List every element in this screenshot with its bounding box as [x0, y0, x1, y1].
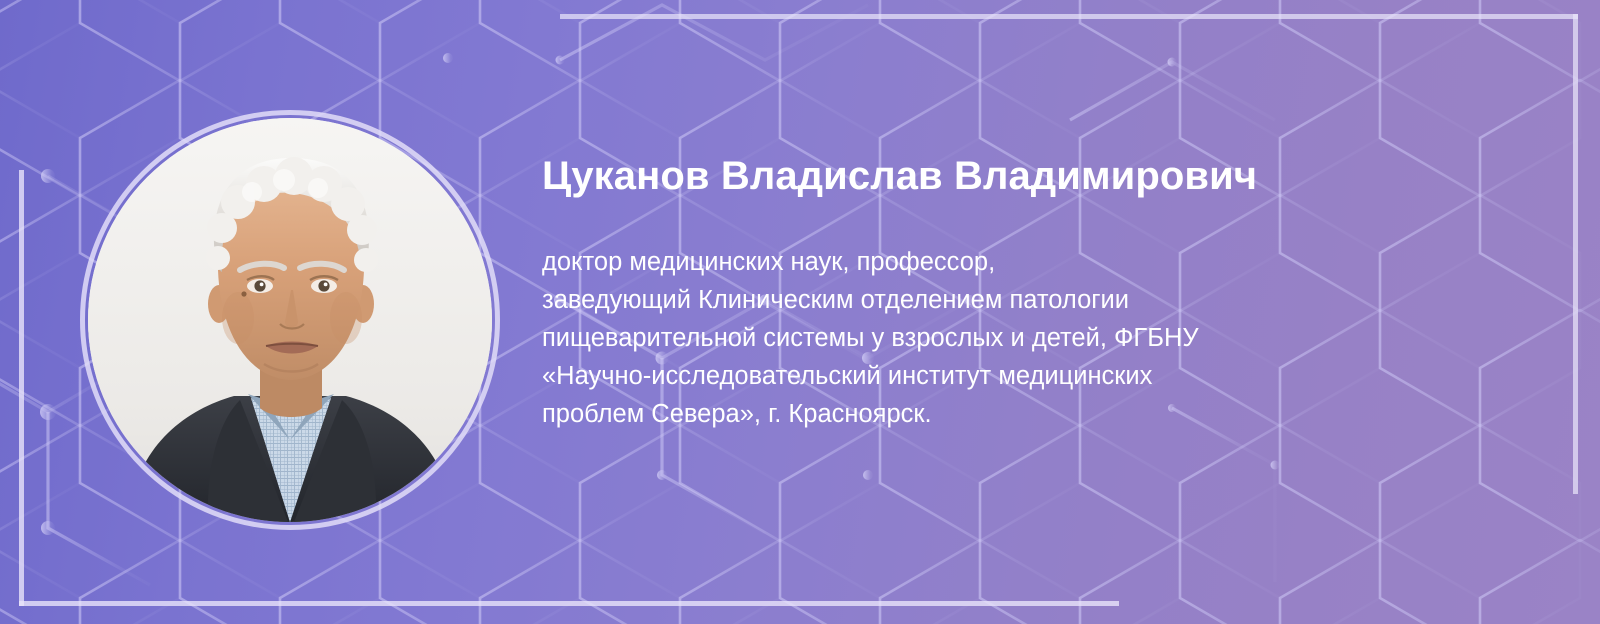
avatar: [80, 110, 500, 530]
inner-frame-right: [1573, 14, 1578, 494]
description-line: «Научно-исследовательский институт медиц…: [542, 357, 1462, 395]
description-line: проблем Севера», г. Красноярск.: [542, 395, 1462, 433]
person-name: Цуканов Владислав Владимирович: [542, 150, 1462, 202]
inner-frame-top: [560, 14, 1578, 19]
description-line: доктор медицинских наук, профессор,: [542, 243, 1462, 281]
description-line: пищеварительной системы у взрослых и дет…: [542, 319, 1462, 357]
inner-frame-left: [19, 170, 24, 606]
person-description: доктор медицинских наук, профессор, заве…: [542, 243, 1462, 433]
description-line: заведующий Клиническим отделением патоло…: [542, 281, 1462, 319]
inner-frame-bottom: [19, 601, 1119, 606]
speaker-info: Цуканов Владислав Владимирович доктор ме…: [542, 150, 1462, 433]
speaker-card: Цуканов Владислав Владимирович доктор ме…: [0, 0, 1600, 624]
avatar-ring: [80, 110, 500, 530]
